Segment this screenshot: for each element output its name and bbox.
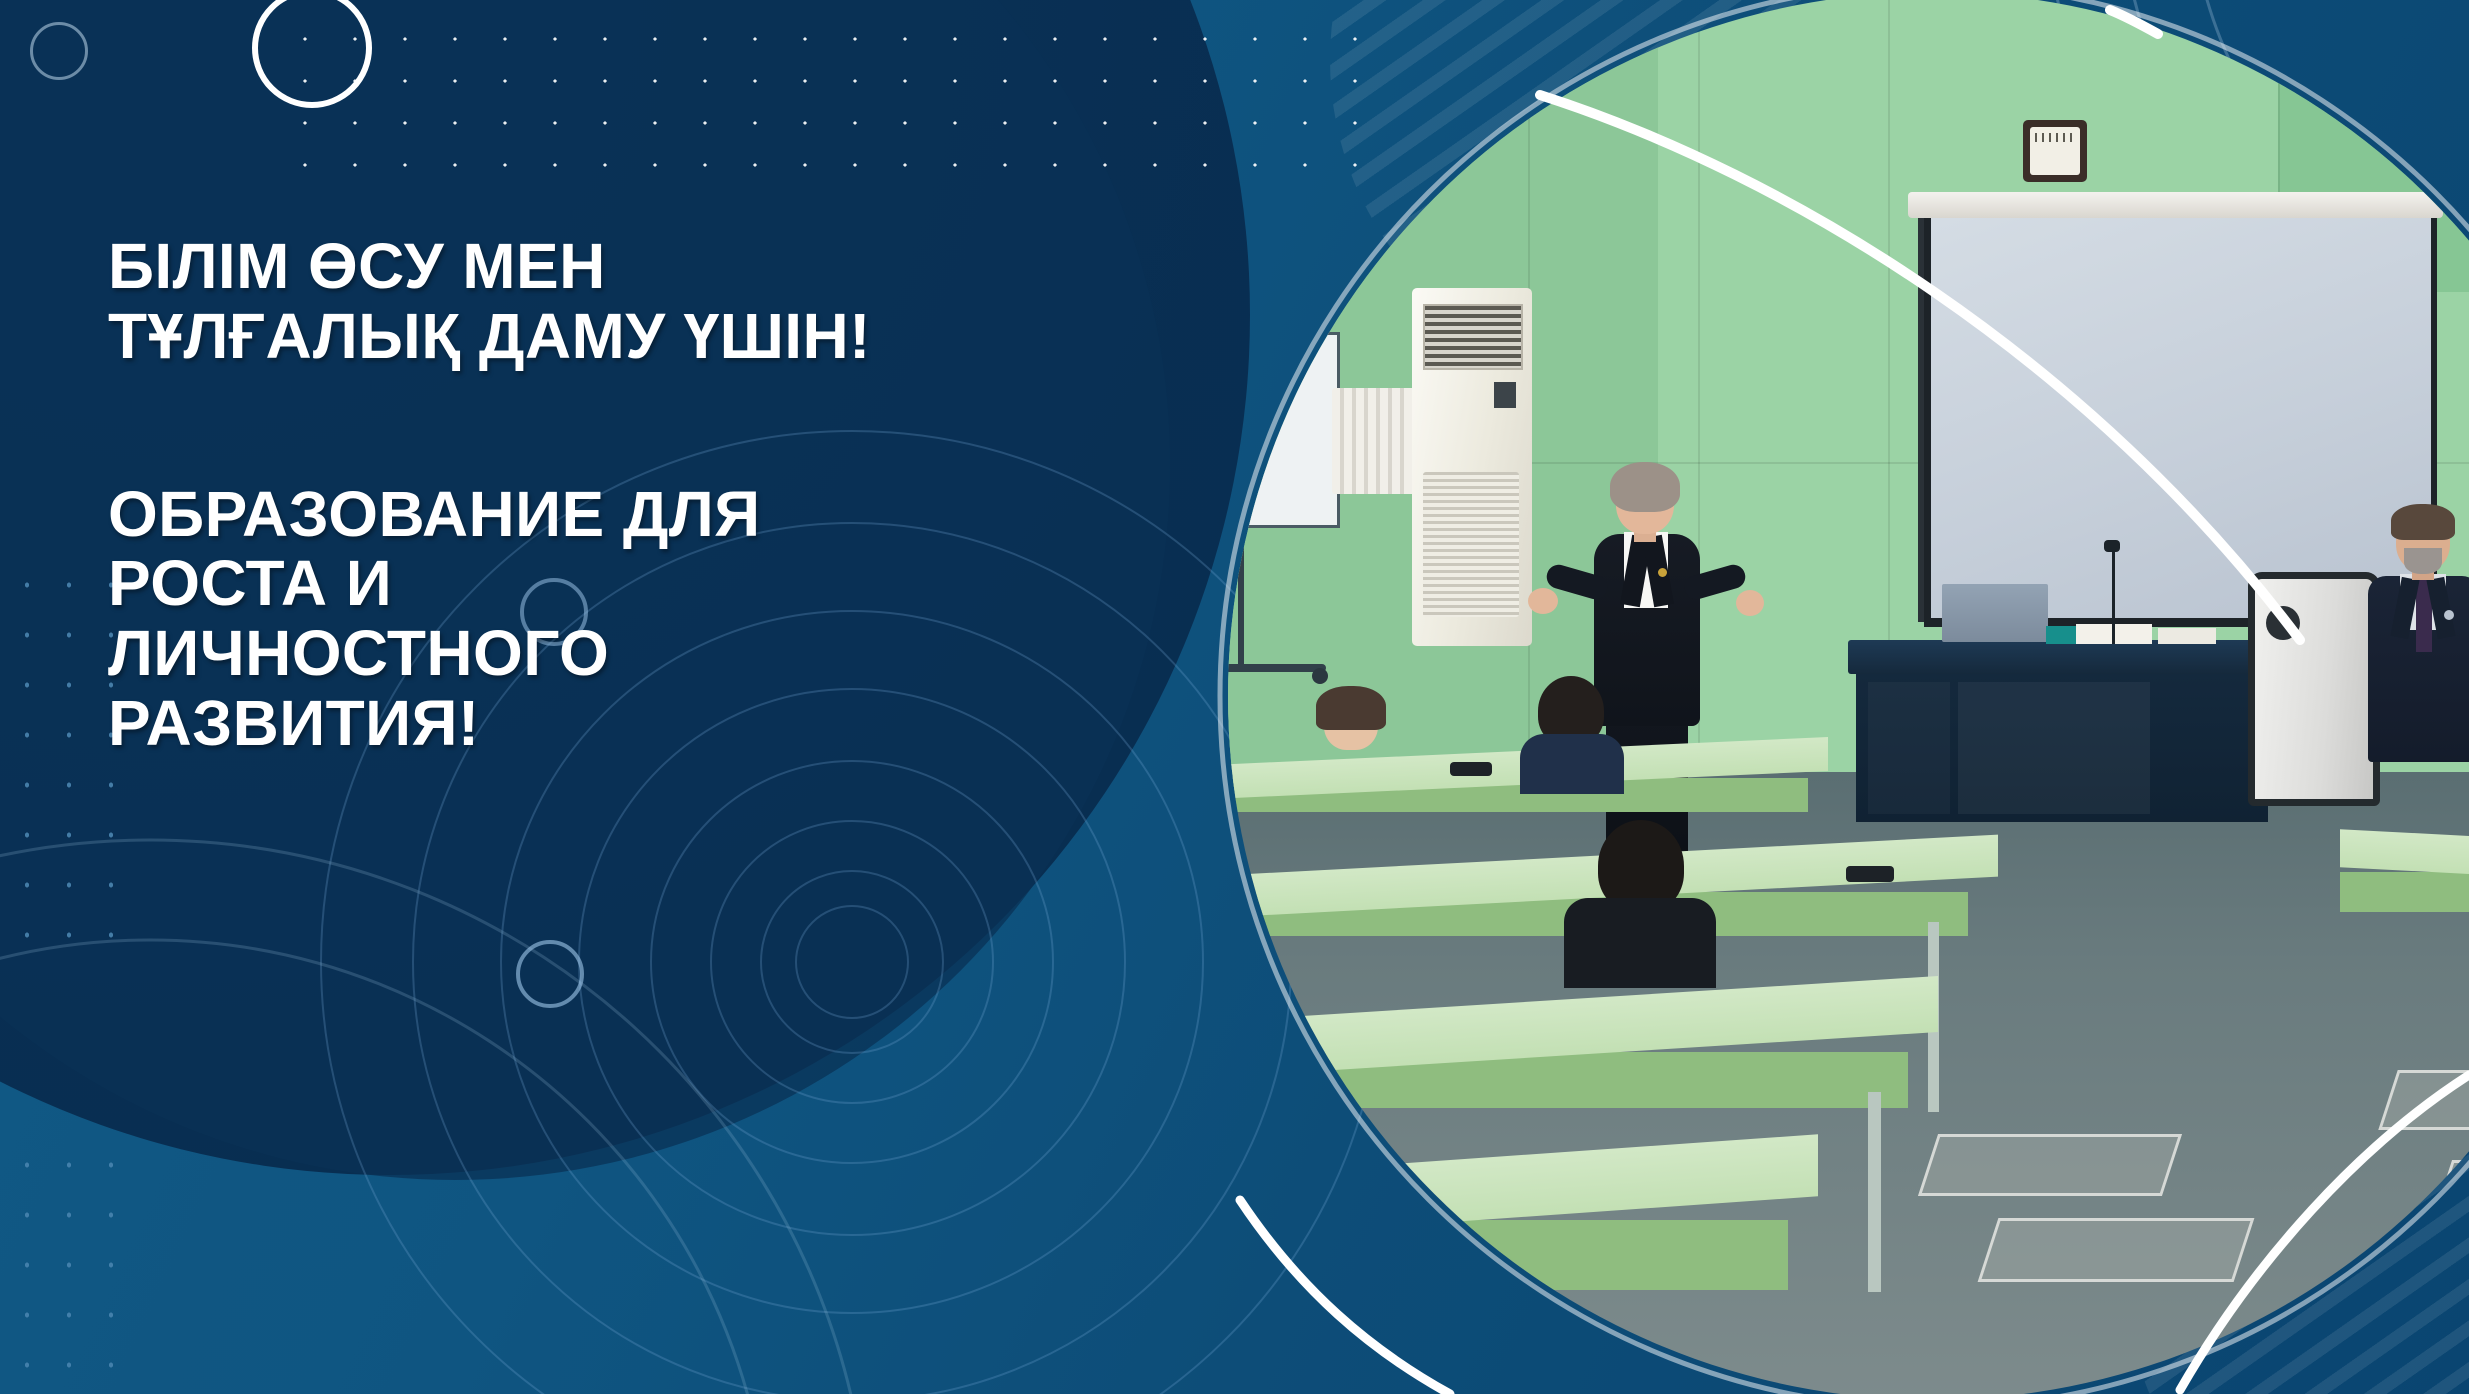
white-arc-lines [0, 0, 2469, 1394]
poster-canvas: БІЛІМ ӨСУ МЕН ТҰЛҒАЛЫҚ ДАМУ ҮШІН! ОБРАЗО… [0, 0, 2469, 1394]
